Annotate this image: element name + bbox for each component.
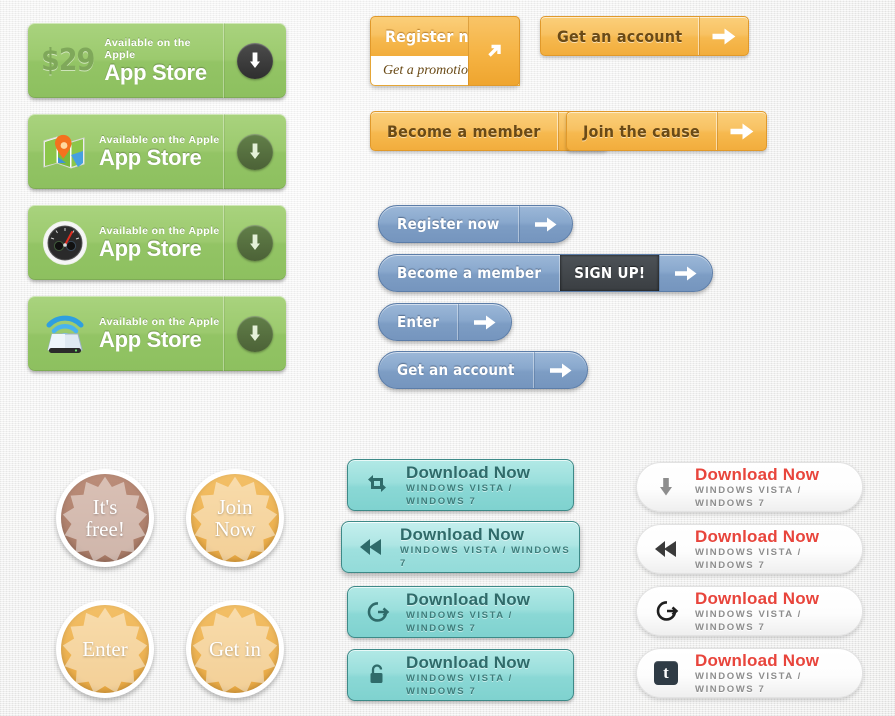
circle-badge-get-in[interactable]: Get in bbox=[186, 600, 284, 698]
blue-button-register-now[interactable]: Register now bbox=[378, 205, 573, 243]
download-arrow-icon bbox=[237, 225, 273, 261]
blue-button-label: Register now bbox=[379, 206, 519, 242]
download-button-text: Download Now WINDOWS VISTA / WINDOWS 7 bbox=[695, 465, 862, 510]
download-button-cyan-rewind[interactable]: Download Now WINDOWS VISTA / WINDOWS 7 bbox=[341, 521, 580, 573]
download-sub-label: WINDOWS VISTA / WINDOWS 7 bbox=[695, 546, 862, 572]
appstore-sub-label: Available on the Apple bbox=[104, 37, 223, 61]
download-button-cyan-lock[interactable]: Download Now WINDOWS VISTA / WINDOWS 7 bbox=[347, 649, 574, 701]
download-button-white-rewind[interactable]: Download Now WINDOWS VISTA / WINDOWS 7 bbox=[636, 524, 863, 574]
download-button-white-logout[interactable]: Download Now WINDOWS VISTA / WINDOWS 7 bbox=[636, 586, 863, 636]
arrow-right-icon bbox=[458, 304, 511, 340]
download-arrow-icon bbox=[237, 316, 273, 352]
appstore-sub-label: Available on the Apple bbox=[99, 134, 220, 146]
download-main-label: Download Now bbox=[400, 525, 579, 544]
circle-badge-line2: free! bbox=[85, 518, 125, 540]
logout-arrow-icon bbox=[637, 599, 695, 623]
button-set-canvas: $29 Available on the Apple App Store bbox=[0, 0, 895, 716]
circle-badge-inner: It's free! bbox=[61, 474, 149, 562]
swap-arrows-icon bbox=[348, 473, 406, 497]
circle-badge-text: Enter bbox=[82, 638, 127, 660]
download-arrow-icon bbox=[237, 134, 273, 170]
circle-badge-enter[interactable]: Enter bbox=[56, 600, 154, 698]
tumblr-icon: t bbox=[637, 661, 695, 685]
blue-button-become-a-member[interactable]: Become a member SIGN UP! bbox=[378, 254, 713, 292]
blue-button-label: Get an account bbox=[379, 352, 534, 388]
download-button-cyan-logout[interactable]: Download Now WINDOWS VISTA / WINDOWS 7 bbox=[347, 586, 574, 638]
register-now-promo-button[interactable]: Register now Get a promotion bbox=[370, 16, 520, 86]
download-main-label: Download Now bbox=[406, 463, 573, 482]
download-button-text: Download Now WINDOWS VISTA / WINDOWS 7 bbox=[406, 463, 573, 508]
circle-badge-text: Get in bbox=[209, 638, 261, 660]
download-button-text: Download Now WINDOWS VISTA / WINDOWS 7 bbox=[400, 525, 579, 570]
circle-badge-line1: Join bbox=[215, 496, 256, 518]
orange-button-label: Get an account bbox=[541, 17, 699, 55]
arrow-right-icon bbox=[659, 255, 712, 291]
download-arrow-icon bbox=[637, 476, 695, 498]
blue-button-label: Become a member bbox=[379, 255, 560, 291]
download-sub-label: WINDOWS VISTA / WINDOWS 7 bbox=[406, 609, 573, 635]
download-button-text: Download Now WINDOWS VISTA / WINDOWS 7 bbox=[406, 653, 573, 698]
appstore-label-group: Available on the Apple App Store bbox=[97, 225, 220, 261]
appstore-button-body: Available on the Apple App Store bbox=[28, 205, 224, 280]
appstore-main-label: App Store bbox=[99, 328, 220, 352]
orange-button-label: Become a member bbox=[371, 112, 558, 150]
download-sub-label: WINDOWS VISTA / WINDOWS 7 bbox=[406, 482, 573, 508]
promo-box: Register now Get a promotion bbox=[370, 16, 520, 86]
appstore-label-group: Available on the Apple App Store bbox=[102, 37, 223, 85]
download-button-text: Download Now WINDOWS VISTA / WINDOWS 7 bbox=[695, 651, 862, 696]
circle-badge-line1: Get in bbox=[209, 638, 261, 660]
appstore-label-group: Available on the Apple App Store bbox=[97, 316, 220, 352]
map-pin-icon bbox=[41, 128, 89, 176]
appstore-label-group: Available on the Apple App Store bbox=[97, 134, 220, 170]
appstore-price-label: $29 bbox=[41, 43, 94, 78]
appstore-button-body: $29 Available on the Apple App Store bbox=[28, 23, 224, 98]
status-badge[interactable]: SIGN UP! bbox=[560, 255, 659, 291]
download-main-label: Download Now bbox=[695, 465, 862, 484]
appstore-button-wifi[interactable]: Available on the Apple App Store bbox=[28, 296, 286, 371]
blue-button-get-an-account[interactable]: Get an account bbox=[378, 351, 588, 389]
circle-badge-inner: Enter bbox=[61, 605, 149, 693]
download-sub-label: WINDOWS VISTA / WINDOWS 7 bbox=[400, 544, 579, 570]
appstore-download-area[interactable] bbox=[224, 296, 286, 371]
download-button-cyan-swap[interactable]: Download Now WINDOWS VISTA / WINDOWS 7 bbox=[347, 459, 574, 511]
arrow-right-icon bbox=[519, 206, 572, 242]
download-sub-label: WINDOWS VISTA / WINDOWS 7 bbox=[406, 672, 573, 698]
rewind-arrows-icon bbox=[637, 538, 695, 560]
download-main-label: Download Now bbox=[695, 651, 862, 670]
appstore-download-area[interactable] bbox=[224, 114, 286, 189]
appstore-button-price[interactable]: $29 Available on the Apple App Store bbox=[28, 23, 286, 98]
blue-button-enter[interactable]: Enter bbox=[378, 303, 512, 341]
download-button-text: Download Now WINDOWS VISTA / WINDOWS 7 bbox=[695, 527, 862, 572]
circle-badge-line2: Now bbox=[215, 518, 256, 540]
circle-badge-text: It's free! bbox=[85, 496, 125, 540]
appstore-button-body: Available on the Apple App Store bbox=[28, 114, 224, 189]
arrow-right-icon bbox=[534, 352, 587, 388]
download-sub-label: WINDOWS VISTA / WINDOWS 7 bbox=[695, 608, 862, 634]
circle-badge-text: Join Now bbox=[215, 496, 256, 540]
wifi-router-icon bbox=[41, 310, 89, 358]
appstore-main-label: App Store bbox=[104, 61, 223, 85]
orange-button-join-the-cause[interactable]: Join the cause bbox=[566, 111, 767, 151]
circle-badge-inner: Join Now bbox=[191, 474, 279, 562]
download-main-label: Download Now bbox=[406, 653, 573, 672]
circle-badge-join-now[interactable]: Join Now bbox=[186, 469, 284, 567]
appstore-sub-label: Available on the Apple bbox=[99, 225, 220, 237]
appstore-button-body: Available on the Apple App Store bbox=[28, 296, 224, 371]
arrow-diagonal-up-right-icon[interactable] bbox=[468, 16, 520, 86]
download-arrow-icon bbox=[237, 43, 273, 79]
download-button-text: Download Now WINDOWS VISTA / WINDOWS 7 bbox=[406, 590, 573, 635]
logout-arrow-icon bbox=[348, 600, 406, 624]
download-sub-label: WINDOWS VISTA / WINDOWS 7 bbox=[695, 670, 862, 696]
appstore-button-speed[interactable]: Available on the Apple App Store bbox=[28, 205, 286, 280]
arrow-right-icon bbox=[717, 112, 766, 150]
download-main-label: Download Now bbox=[695, 589, 862, 608]
appstore-download-area[interactable] bbox=[224, 205, 286, 280]
appstore-sub-label: Available on the Apple bbox=[99, 316, 220, 328]
download-sub-label: WINDOWS VISTA / WINDOWS 7 bbox=[695, 484, 862, 510]
appstore-main-label: App Store bbox=[99, 146, 220, 170]
appstore-download-area[interactable] bbox=[224, 23, 286, 98]
orange-button-get-an-account[interactable]: Get an account bbox=[540, 16, 749, 56]
download-main-label: Download Now bbox=[695, 527, 862, 546]
circle-badge-its-free[interactable]: It's free! bbox=[56, 469, 154, 567]
circle-badge-line1: It's bbox=[85, 496, 125, 518]
tumblr-glyph: t bbox=[654, 661, 678, 685]
circle-badge-inner: Get in bbox=[191, 605, 279, 693]
download-button-white-tumblr[interactable]: t Download Now WINDOWS VISTA / WINDOWS 7 bbox=[636, 648, 863, 698]
circle-badge-line1: Enter bbox=[82, 638, 127, 660]
rewind-arrows-icon bbox=[342, 536, 400, 558]
orange-button-label: Join the cause bbox=[567, 112, 717, 150]
appstore-main-label: App Store bbox=[99, 237, 220, 261]
download-button-white-download[interactable]: Download Now WINDOWS VISTA / WINDOWS 7 bbox=[636, 462, 863, 512]
blue-button-label: Enter bbox=[379, 304, 458, 340]
appstore-button-map[interactable]: Available on the Apple App Store bbox=[28, 114, 286, 189]
arrow-right-icon bbox=[699, 17, 748, 55]
padlock-icon bbox=[348, 663, 406, 687]
download-button-text: Download Now WINDOWS VISTA / WINDOWS 7 bbox=[695, 589, 862, 634]
speedometer-icon bbox=[41, 219, 89, 267]
download-main-label: Download Now bbox=[406, 590, 573, 609]
